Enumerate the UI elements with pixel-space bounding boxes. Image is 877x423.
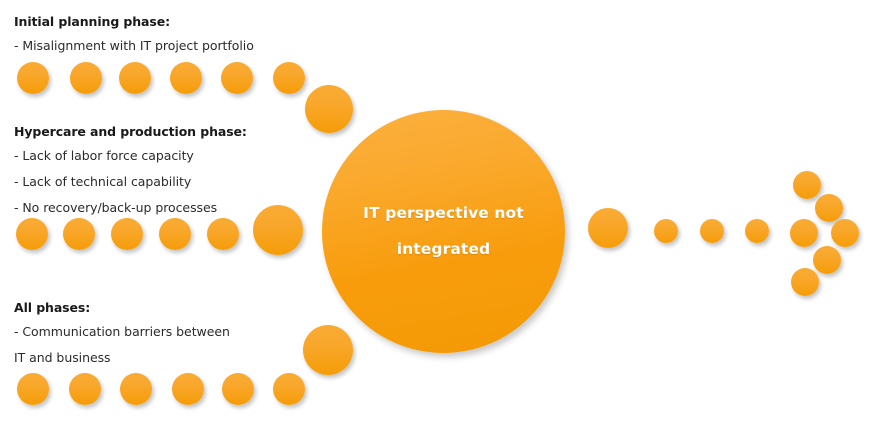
dot-circle: [305, 85, 353, 133]
dot-circle: [793, 171, 821, 199]
block-line: - Misalignment with IT project portfolio: [14, 38, 254, 53]
block-line: - Lack of labor force capacity: [14, 148, 247, 163]
dot-circle: [16, 218, 48, 250]
block-title: Initial planning phase:: [14, 14, 254, 29]
central-hub-circle: IT perspective not integrated: [322, 110, 565, 353]
dot-circle: [63, 218, 95, 250]
dot-circle: [70, 62, 102, 94]
hub-label-line-2: integrated: [397, 242, 491, 258]
text-block-hypercare-and-production-phase: Hypercare and production phase: - Lack o…: [14, 124, 247, 215]
dot-circle: [253, 205, 303, 255]
block-title: Hypercare and production phase:: [14, 124, 247, 139]
dot-circle: [815, 194, 843, 222]
block-title: All phases:: [14, 300, 230, 315]
text-block-all-phases: All phases: - Communication barriers bet…: [14, 300, 230, 365]
dot-circle: [813, 246, 841, 274]
dot-circle: [791, 268, 819, 296]
block-line: IT and business: [14, 350, 230, 365]
dot-circle: [831, 219, 859, 247]
dot-circle: [111, 218, 143, 250]
block-line: - Communication barriers between: [14, 324, 230, 339]
dot-circle: [207, 218, 239, 250]
dot-circle: [745, 219, 769, 243]
dot-circle: [17, 373, 49, 405]
block-line: - Lack of technical capability: [14, 174, 247, 189]
dot-circle: [69, 373, 101, 405]
dot-circle: [221, 62, 253, 94]
dot-circle: [170, 62, 202, 94]
dot-circle: [588, 208, 628, 248]
dot-circle: [17, 62, 49, 94]
dot-circle: [222, 373, 254, 405]
dot-circle: [159, 218, 191, 250]
block-line: - No recovery/back-up processes: [14, 200, 247, 215]
dot-circle: [273, 62, 305, 94]
dot-circle: [303, 325, 353, 375]
text-block-initial-planning-phase: Initial planning phase: - Misalignment w…: [14, 14, 254, 53]
dot-circle: [120, 373, 152, 405]
dot-circle: [790, 219, 818, 247]
dot-circle: [172, 373, 204, 405]
dot-circle: [654, 219, 678, 243]
dot-circle: [119, 62, 151, 94]
diagram-canvas: Initial planning phase: - Misalignment w…: [0, 0, 877, 423]
hub-label-line-1: IT perspective not: [363, 206, 524, 222]
dot-circle: [273, 373, 305, 405]
dot-circle: [700, 219, 724, 243]
